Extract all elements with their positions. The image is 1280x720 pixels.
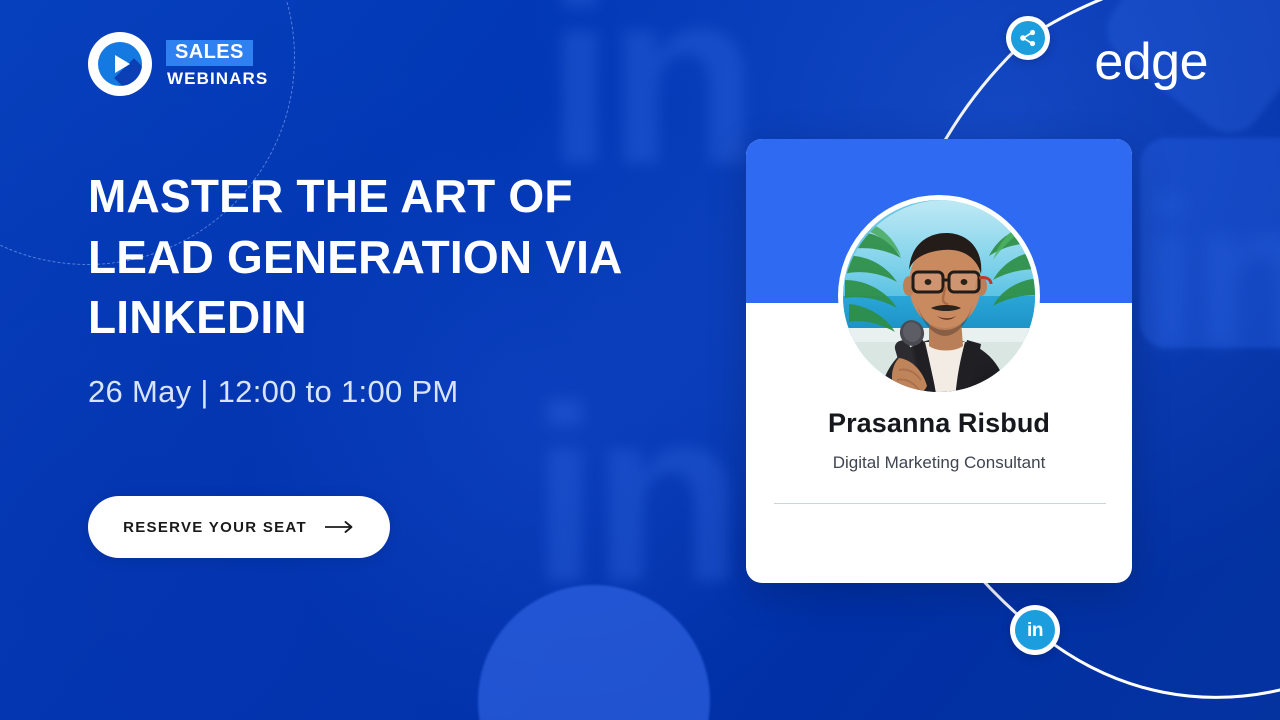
edge-brand-logo[interactable]: edge bbox=[1094, 36, 1208, 88]
decorative-rounded-rect bbox=[1140, 138, 1280, 348]
logo-badge-sales: SALES bbox=[166, 40, 253, 66]
play-button-icon bbox=[88, 32, 152, 96]
speaker-portrait-image bbox=[843, 200, 1040, 397]
arrow-right-icon bbox=[325, 521, 355, 533]
avatar bbox=[838, 195, 1040, 397]
page-title: MASTER THE ART OF LEAD GENERATION VIA LI… bbox=[88, 166, 688, 348]
share-glyph bbox=[1018, 28, 1038, 48]
speaker-card: Prasanna Risbud Digital Marketing Consul… bbox=[746, 139, 1132, 583]
speaker-name: Prasanna Risbud bbox=[774, 407, 1104, 439]
play-triangle-icon bbox=[115, 55, 130, 73]
event-datetime: 26 May | 12:00 to 1:00 PM bbox=[88, 374, 459, 410]
logo-wordmark: SALES WEBINARS bbox=[166, 40, 268, 89]
reserve-your-seat-button[interactable]: RESERVE YOUR SEAT bbox=[88, 496, 390, 558]
linkedin-watermark-right: in bbox=[1140, 170, 1280, 380]
linkedin-watermark-middle: in bbox=[530, 370, 736, 620]
sales-webinars-logo[interactable]: SALES WEBINARS bbox=[88, 32, 268, 96]
linkedin-label: in bbox=[1027, 621, 1043, 640]
speaker-role: Digital Marketing Consultant bbox=[774, 453, 1104, 473]
webinar-promo-banner: in in in SALES WEBINARS edge MASTER THE … bbox=[0, 0, 1280, 720]
cta-label: RESERVE YOUR SEAT bbox=[123, 519, 307, 536]
linkedin-icon[interactable]: in bbox=[1010, 605, 1060, 655]
decorative-circle bbox=[478, 585, 710, 720]
card-divider bbox=[774, 503, 1106, 504]
logo-word-webinars: WEBINARS bbox=[166, 69, 268, 89]
speaker-info: Prasanna Risbud Digital Marketing Consul… bbox=[746, 407, 1132, 504]
share-network-icon[interactable] bbox=[1006, 16, 1050, 60]
